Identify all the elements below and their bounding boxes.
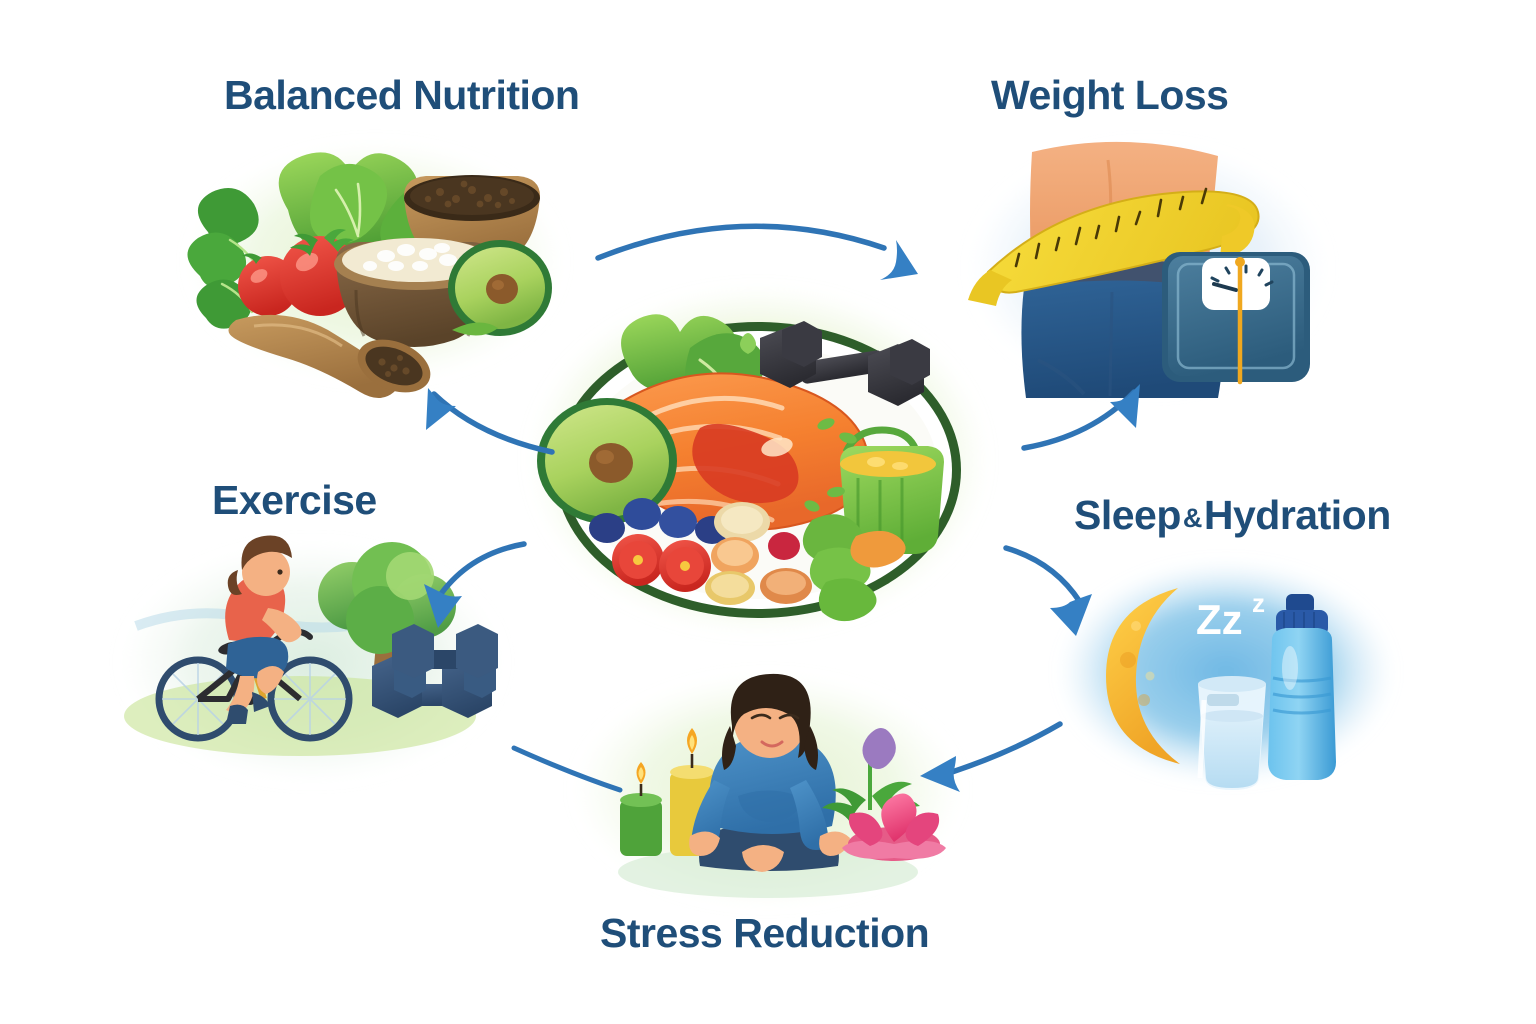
weight-scale bbox=[1162, 252, 1310, 382]
weight-loss-scene bbox=[966, 140, 1330, 398]
stress-reduction-scene bbox=[572, 672, 964, 908]
nutrition-scene bbox=[185, 140, 565, 402]
zzz-small: z bbox=[1252, 588, 1265, 618]
sleep-hydration-scene: Zz z bbox=[1058, 560, 1394, 790]
exercise-scene bbox=[118, 535, 506, 784]
label-weight-loss: Weight Loss bbox=[991, 75, 1228, 116]
label-sleep-ampersand: & bbox=[1181, 503, 1204, 533]
center-plate-scene bbox=[526, 284, 990, 636]
label-exercise: Exercise bbox=[212, 480, 377, 521]
zzz-large: Zz bbox=[1196, 596, 1243, 643]
sleep-water-glass bbox=[1198, 676, 1266, 790]
label-stress-reduction: Stress Reduction bbox=[600, 913, 929, 954]
label-sleep-hydration: Sleep&Hydration bbox=[1074, 495, 1391, 536]
arrow-center-to-sleep bbox=[1006, 548, 1092, 636]
avocado-pit bbox=[589, 443, 633, 483]
label-sleep-prefix: Sleep bbox=[1074, 492, 1181, 538]
green-candle bbox=[620, 800, 662, 856]
arrow-center-to-weight-top bbox=[598, 226, 918, 280]
sleep-water-bottle bbox=[1268, 594, 1336, 780]
label-sleep-suffix: Hydration bbox=[1204, 492, 1391, 538]
nutrition-avocado bbox=[448, 240, 552, 336]
label-balanced-nutrition: Balanced Nutrition bbox=[224, 75, 579, 116]
